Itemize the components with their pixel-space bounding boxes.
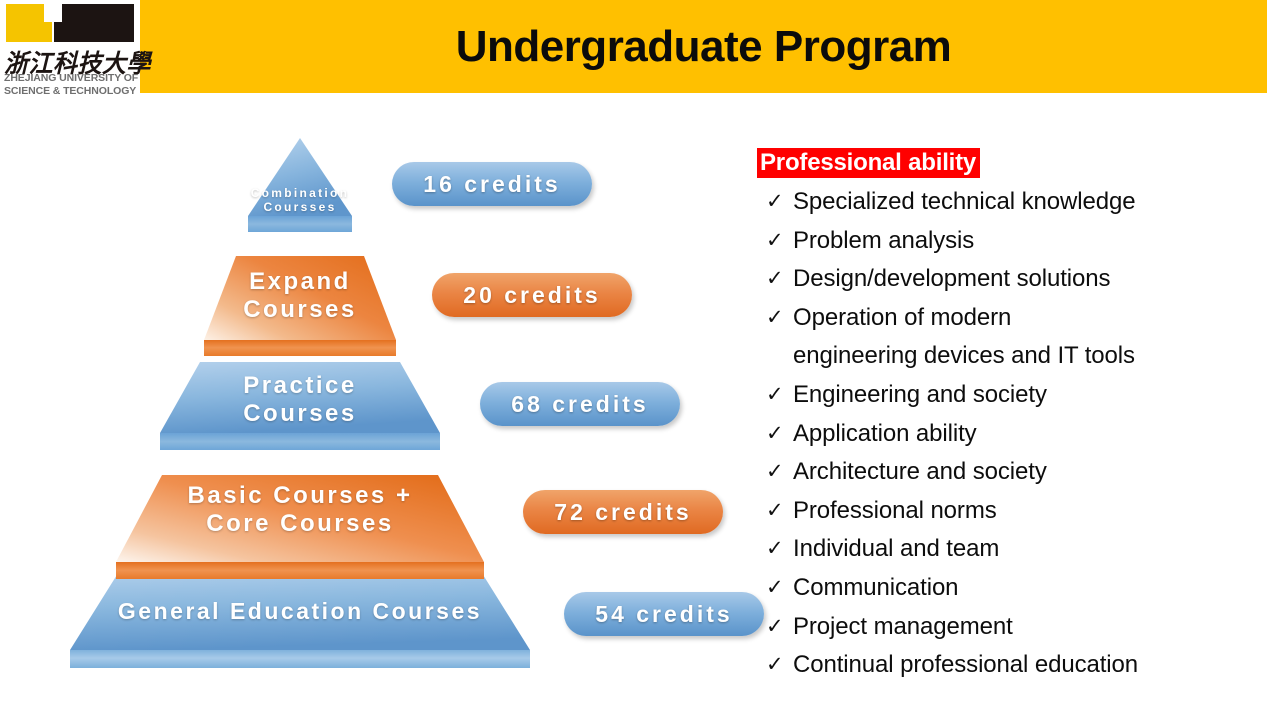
pyramid-tier-general-education xyxy=(70,570,530,668)
professional-ability-heading: Professional ability xyxy=(757,148,980,178)
check-icon: ✓ xyxy=(757,492,793,531)
list-item-label: Design/development solutions xyxy=(793,260,1257,299)
credits-badge-combination[interactable]: 16 credits xyxy=(392,162,592,206)
credits-badge-general-education[interactable]: 54 credits xyxy=(564,592,764,636)
list-item: ✓ Architecture and society xyxy=(757,453,1257,492)
list-item: ✓ Professional norms xyxy=(757,492,1257,531)
check-icon: ✓ xyxy=(757,646,793,685)
list-item: ✓ Project management xyxy=(757,608,1257,647)
check-icon: ✓ xyxy=(757,299,793,338)
pyramid-tier-expand xyxy=(204,256,396,356)
list-item: ✓ Operation of modern engineering device… xyxy=(757,299,1257,376)
list-item: ✓ Communication xyxy=(757,569,1257,608)
logo-english-line-1: ZHEJIANG UNIVERSITY OF xyxy=(4,72,140,85)
professional-ability-panel: Professional ability ✓ Specialized techn… xyxy=(757,148,1257,685)
list-item: ✓ Application ability xyxy=(757,415,1257,454)
credits-badge-practice[interactable]: 68 credits xyxy=(480,382,680,426)
logo-english-name: ZHEJIANG UNIVERSITY OF SCIENCE & TECHNOL… xyxy=(4,72,140,97)
check-icon: ✓ xyxy=(757,222,793,261)
list-item: ✓ Individual and team xyxy=(757,530,1257,569)
list-item: ✓ Design/development solutions xyxy=(757,260,1257,299)
check-icon: ✓ xyxy=(757,569,793,608)
list-item-label: Operation of modern engineering devices … xyxy=(793,299,1257,376)
list-item-label: Project management xyxy=(793,608,1257,647)
logo-notch-icon xyxy=(44,4,62,22)
list-item: ✓ Problem analysis xyxy=(757,222,1257,261)
course-credit-pyramid: Combination Coursses Expand Courses Prac… xyxy=(40,120,740,700)
check-icon: ✓ xyxy=(757,415,793,454)
pyramid-tier-basic-core xyxy=(116,475,484,579)
pyramid-tier-combination xyxy=(248,138,352,232)
check-icon: ✓ xyxy=(757,376,793,415)
check-icon: ✓ xyxy=(757,608,793,647)
list-item-label: Communication xyxy=(793,569,1257,608)
page-title: Undergraduate Program xyxy=(140,0,1267,93)
slide-root: 浙江科技大學 ZHEJIANG UNIVERSITY OF SCIENCE & … xyxy=(0,0,1267,713)
list-item-label: Specialized technical knowledge xyxy=(793,183,1257,222)
list-item: ✓ Engineering and society xyxy=(757,376,1257,415)
credits-badge-expand[interactable]: 20 credits xyxy=(432,273,632,317)
logo-dark-rect-icon xyxy=(54,4,134,42)
professional-ability-list: ✓ Specialized technical knowledge ✓ Prob… xyxy=(757,183,1257,685)
list-item-label: Continual professional education xyxy=(793,646,1257,685)
list-item: ✓ Continual professional education xyxy=(757,646,1257,685)
list-item: ✓ Specialized technical knowledge xyxy=(757,183,1257,222)
check-icon: ✓ xyxy=(757,260,793,299)
list-item-label: Professional norms xyxy=(793,492,1257,531)
credits-badge-basic-core[interactable]: 72 credits xyxy=(523,490,723,534)
check-icon: ✓ xyxy=(757,183,793,222)
check-icon: ✓ xyxy=(757,530,793,569)
list-item-label: Architecture and society xyxy=(793,453,1257,492)
list-item-label: Problem analysis xyxy=(793,222,1257,261)
check-icon: ✓ xyxy=(757,453,793,492)
list-item-label: Application ability xyxy=(793,415,1257,454)
list-item-label: Individual and team xyxy=(793,530,1257,569)
logo-english-line-2: SCIENCE & TECHNOLOGY xyxy=(4,85,140,98)
logo-mark-icon xyxy=(6,4,134,44)
list-item-label: Engineering and society xyxy=(793,376,1257,415)
pyramid-tier-practice xyxy=(160,362,440,450)
university-logo: 浙江科技大學 ZHEJIANG UNIVERSITY OF SCIENCE & … xyxy=(0,0,140,101)
